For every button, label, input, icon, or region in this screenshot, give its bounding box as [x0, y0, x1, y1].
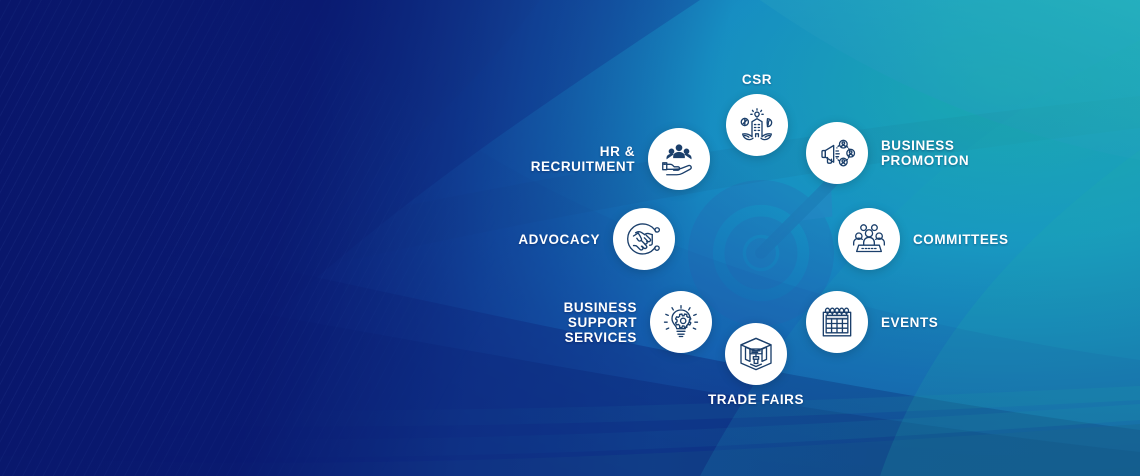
icon-bubble-hr-recruitment[interactable] [648, 128, 710, 190]
icon-bubble-trade-fairs[interactable] [725, 323, 787, 385]
node-label-advocacy: ADVOCACY [500, 232, 600, 247]
node-label-business-support-services: BUSINESS SUPPORT SERVICES [498, 300, 637, 345]
node-committees[interactable]: COMMITTEES [838, 208, 1009, 270]
csr-building-leaves-icon [737, 105, 777, 145]
node-events[interactable]: EVENTS [806, 291, 938, 353]
node-label-committees: COMMITTEES [913, 232, 1009, 247]
node-label-business-promotion: BUSINESS PROMOTION [881, 138, 969, 168]
node-advocacy[interactable]: ADVOCACY [500, 208, 675, 270]
node-label-events: EVENTS [881, 315, 938, 330]
exhibition-booth-icon [736, 334, 776, 374]
node-label-hr-recruitment: HR & RECRUITMENT [517, 144, 635, 174]
icon-bubble-advocacy[interactable] [613, 208, 675, 270]
services-banner: CSR HR & RECRUITMENT [0, 0, 1140, 476]
node-label-csr: CSR [742, 72, 772, 87]
icon-bubble-business-promotion[interactable] [806, 122, 868, 184]
people-podium-icon [849, 219, 889, 259]
handshake-circle-icon [624, 219, 664, 259]
node-label-trade-fairs: TRADE FAIRS [708, 392, 804, 407]
node-business-promotion[interactable]: BUSINESS PROMOTION [806, 122, 969, 184]
icon-bubble-committees[interactable] [838, 208, 900, 270]
node-csr[interactable]: CSR [697, 72, 817, 156]
node-trade-fairs[interactable]: TRADE FAIRS [695, 323, 817, 407]
hand-holding-people-icon [659, 139, 699, 179]
calendar-icon [817, 302, 857, 342]
megaphone-network-icon [817, 133, 857, 173]
node-hr-recruitment[interactable]: HR & RECRUITMENT [517, 128, 710, 190]
node-business-support-services[interactable]: BUSINESS SUPPORT SERVICES [498, 291, 712, 353]
icon-bubble-csr[interactable] [726, 94, 788, 156]
